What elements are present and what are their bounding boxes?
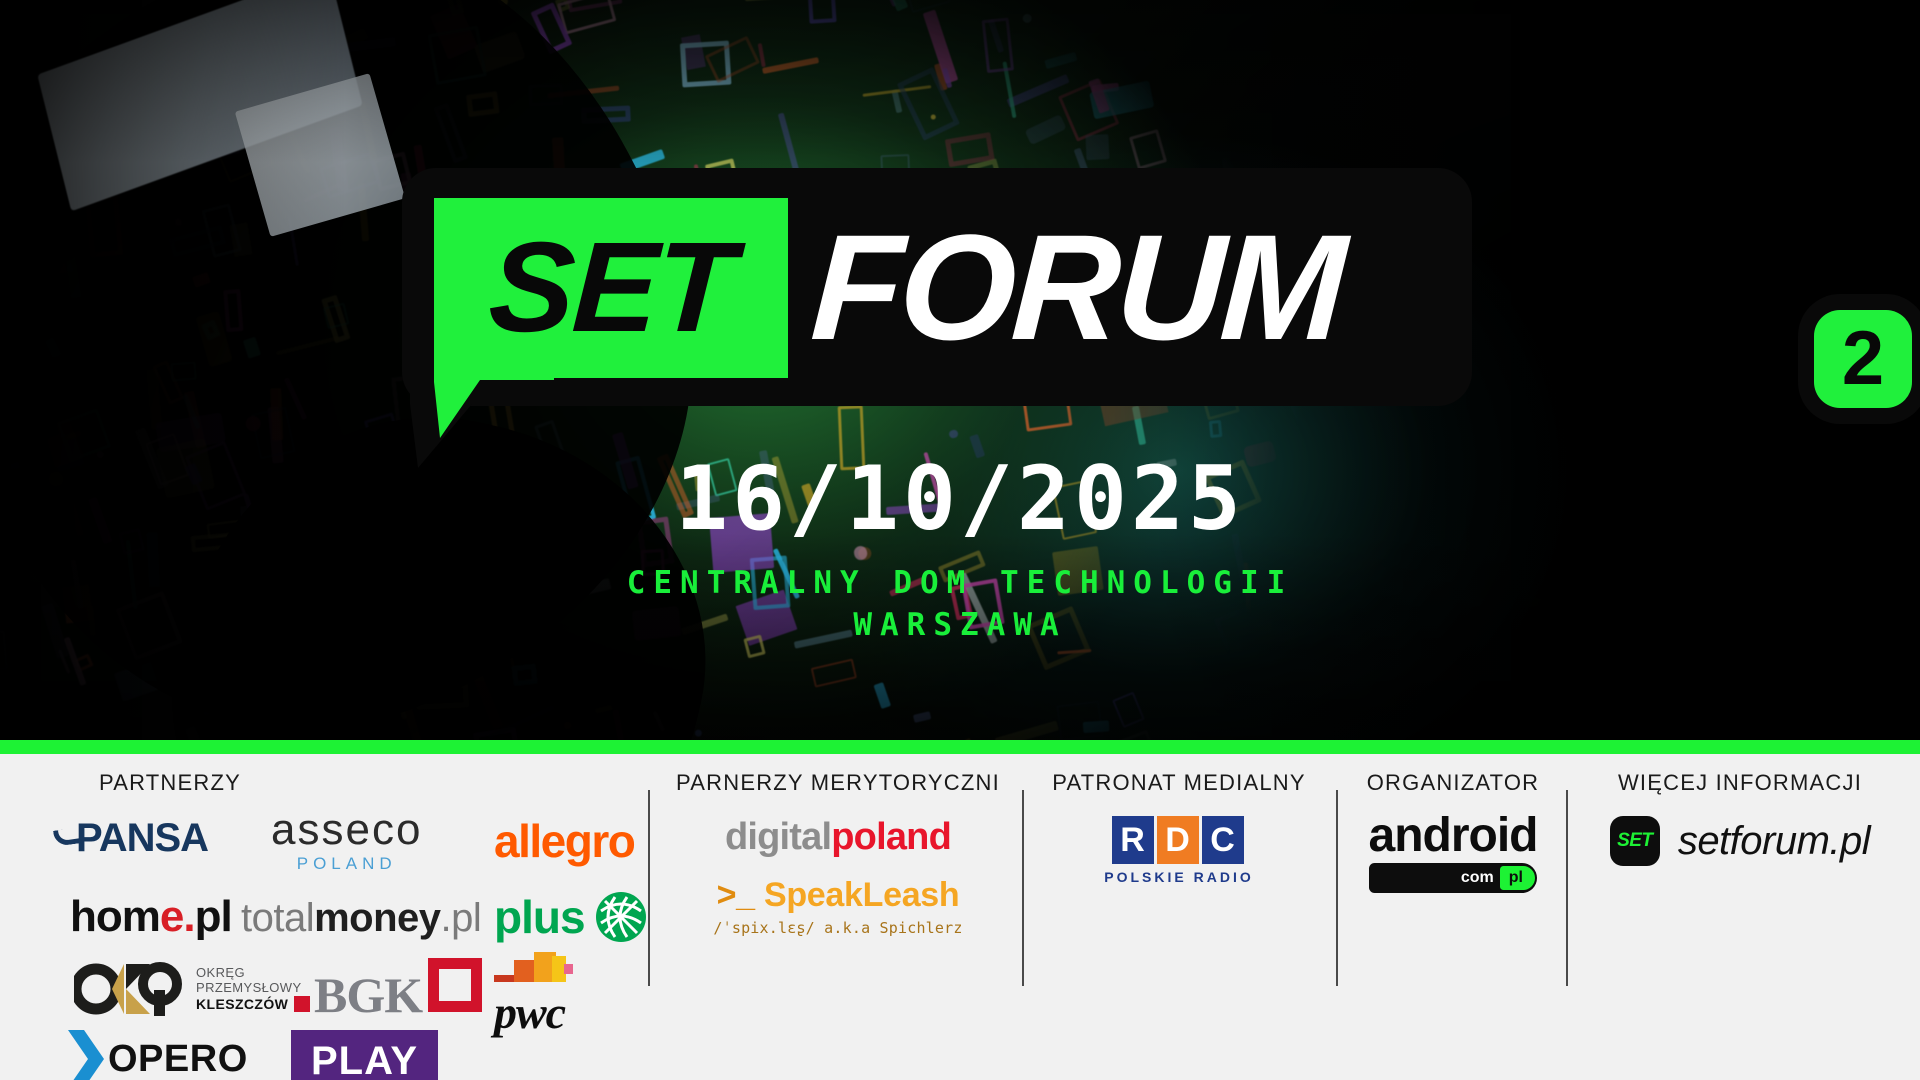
set-forum-logo: SET FORUM 2: [402, 168, 1492, 438]
hero-banner: SET FORUM 2 16/10/2025 CENTRALNY DOM TEC…: [0, 0, 1920, 740]
android-wordmark: android: [1369, 812, 1538, 860]
logo-pwc[interactable]: pwc: [494, 950, 576, 1039]
logo-rdc[interactable]: R D C POLSKIE RADIO: [1034, 816, 1324, 885]
logo-forum-word: FORUM: [808, 212, 1346, 362]
logo-plus[interactable]: plus: [494, 890, 647, 944]
bgk-square-icon: [428, 958, 482, 1012]
okp-name-block: OKRĘG PRZEMYSŁOWY KLESZCZÓW: [196, 966, 302, 1012]
logo-play[interactable]: PLAY: [291, 1030, 438, 1080]
partner-logo-row-4: OPERO Backup&Recovery PLAY: [26, 1028, 638, 1080]
speakleash-pronunciation: /ˈspix.lɛʂ/ a.k.a Spichlerz: [713, 919, 962, 937]
partner-logo-row-3: OKRĘG PRZEMYSŁOWY KLESZCZÓW BGK: [26, 956, 638, 1026]
green-divider-bar: [0, 740, 1920, 754]
column-parnerzy-merytoryczni: PARNERZY MERYTORYCZNI digitalpoland >_ S…: [660, 754, 1016, 796]
event-venue: CENTRALNY DOM TECHNOLOGII WARSZAWA: [0, 563, 1920, 647]
column-patronat-medialny: PATRONAT MEDIALNY R D C POLSKIE RADIO: [1034, 754, 1324, 796]
event-date: 16/10/2025: [0, 455, 1920, 543]
xopero-wordmark: OPERO: [108, 1038, 248, 1080]
poster-page: SET FORUM 2 16/10/2025 CENTRALNY DOM TEC…: [0, 0, 1920, 1080]
logo-totalmoney-pl[interactable]: totalmoney.pl: [241, 896, 481, 941]
partner-logo-row-1: PANSA asseco POLAND allegro: [26, 806, 638, 880]
okp-line-1: OKRĘG: [196, 966, 302, 981]
home-pl-wordmark: home.pl: [70, 892, 232, 942]
okp-line-3: KLESZCZÓW: [196, 996, 302, 1012]
column-wiecej-informacji: WIĘCEJ INFORMACJI SET setforum.pl: [1580, 754, 1900, 796]
plus-ball-icon: [595, 891, 647, 943]
column-divider-1: [648, 790, 650, 986]
pansa-swoosh-icon: [53, 827, 81, 846]
logo-asseco[interactable]: asseco POLAND: [271, 808, 422, 874]
play-wordmark: PLAY: [291, 1030, 438, 1080]
venue-line-2: WARSZAWA: [0, 605, 1920, 647]
rdc-letter-d: D: [1157, 816, 1199, 864]
column-divider-4: [1566, 790, 1568, 986]
asseco-subtext: POLAND: [297, 854, 397, 874]
rdc-letter-boxes: R D C: [1112, 816, 1247, 864]
digitalpoland-wordmark: digitalpoland: [725, 816, 951, 859]
plus-wordmark: plus: [494, 890, 585, 944]
bgk-dot-icon: [294, 996, 310, 1012]
logo-edition-badge: 2: [1814, 310, 1912, 408]
logo-okp-kleszczow[interactable]: OKRĘG PRZEMYSŁOWY KLESZCZÓW: [74, 960, 302, 1018]
asseco-wordmark: asseco: [271, 808, 422, 852]
logo-home-pl[interactable]: home.pl: [70, 892, 232, 942]
speakleash-wordmark: >_ SpeakLeash: [717, 876, 960, 915]
setforum-url-text: setforum.pl: [1678, 819, 1870, 864]
logo-android-com-pl[interactable]: android com pl: [1350, 812, 1556, 893]
partner-columns: PARTNERZY PANSA asseco POLAND allegro: [0, 754, 1920, 1080]
logo-xopero[interactable]: OPERO Backup&Recovery: [66, 1028, 248, 1080]
allegro-wordmark: allegro: [494, 814, 634, 868]
column-heading-merytoryczni: PARNERZY MERYTORYCZNI: [660, 770, 1016, 796]
logo-speakleash[interactable]: >_ SpeakLeash /ˈspix.lɛʂ/ a.k.a Spichler…: [660, 876, 1016, 937]
setforum-link[interactable]: SET setforum.pl: [1580, 816, 1900, 866]
column-divider-3: [1336, 790, 1338, 986]
android-domain-bar: com pl: [1369, 863, 1537, 893]
column-heading-wiecej: WIĘCEJ INFORMACJI: [1580, 770, 1900, 796]
rdc-subtext: POLSKIE RADIO: [1104, 869, 1253, 885]
logo-digitalpoland[interactable]: digitalpoland: [660, 816, 1016, 859]
set-app-icon: SET: [1610, 816, 1660, 866]
okp-monogram-icon: [74, 960, 186, 1018]
speech-bubble-tail-green: [434, 376, 584, 448]
venue-line-1: CENTRALNY DOM TECHNOLOGII: [627, 565, 1294, 601]
android-pl-pill: pl: [1500, 866, 1535, 890]
logo-pansa[interactable]: PANSA: [54, 816, 208, 861]
pwc-blocks-icon: [494, 950, 576, 984]
okp-line-2: PRZEMYSŁOWY: [196, 981, 302, 996]
partner-logo-row-2: home.pl totalmoney.pl plus: [26, 886, 638, 952]
logo-bgk[interactable]: BGK: [294, 958, 482, 1024]
column-heading-organizator: ORGANIZATOR: [1350, 770, 1556, 796]
rdc-letter-c: C: [1202, 816, 1244, 864]
column-partnerzy: PARTNERZY PANSA asseco POLAND allegro: [26, 754, 638, 796]
logo-allegro[interactable]: allegro: [494, 814, 634, 868]
totalmoney-wordmark: totalmoney.pl: [241, 896, 481, 941]
logo-set-word: SET: [442, 214, 780, 362]
column-heading-patronat: PATRONAT MEDIALNY: [1034, 770, 1324, 796]
android-com-text: com: [1461, 869, 1494, 887]
rdc-letter-r: R: [1112, 816, 1154, 864]
partners-footer: PARTNERZY PANSA asseco POLAND allegro: [0, 754, 1920, 1080]
pansa-wordmark: PANSA: [76, 816, 208, 861]
bgk-wordmark: BGK: [294, 966, 422, 1024]
column-organizator: ORGANIZATOR android com pl: [1350, 754, 1556, 796]
terminal-prompt-icon: >_: [717, 876, 755, 914]
column-heading-partnerzy: PARTNERZY: [50, 770, 290, 796]
column-divider-2: [1022, 790, 1024, 986]
